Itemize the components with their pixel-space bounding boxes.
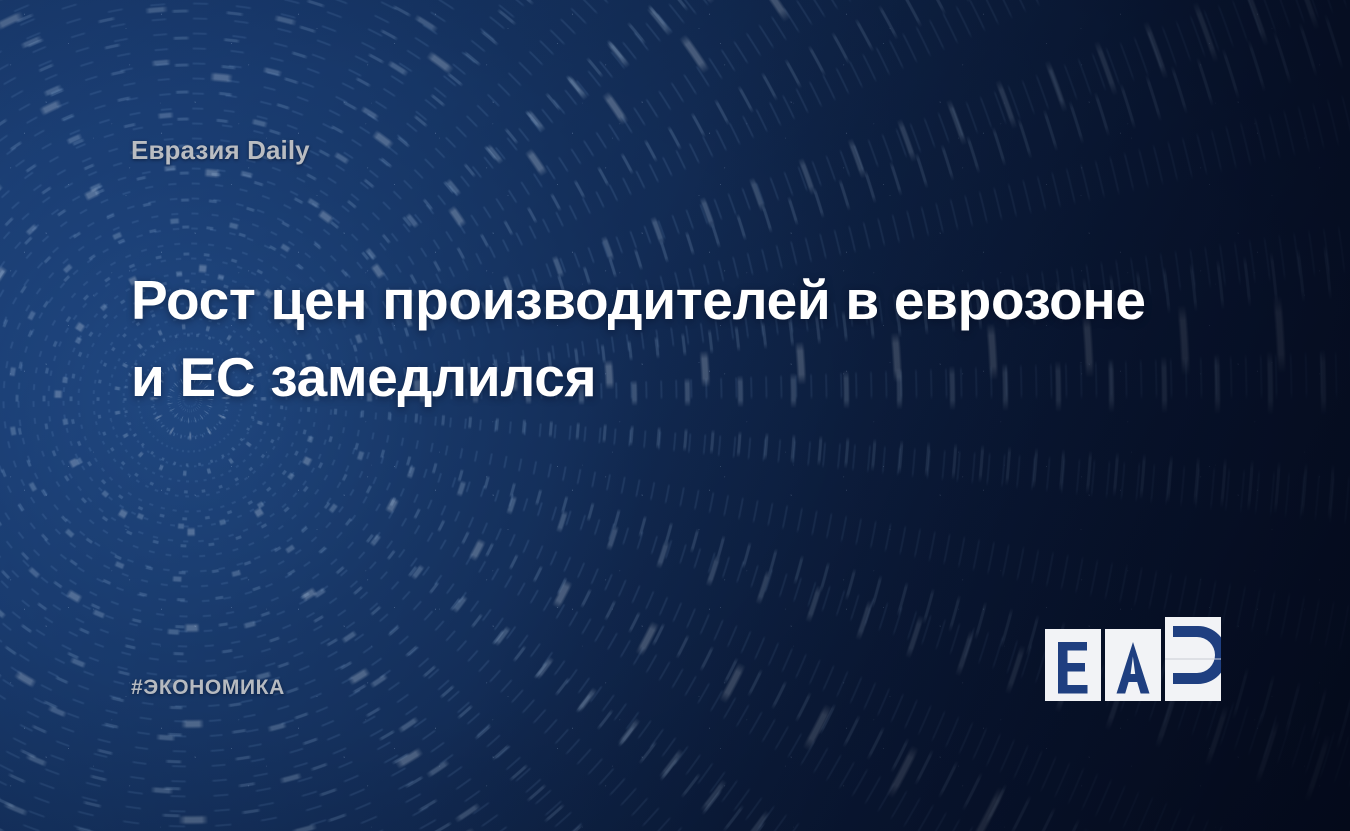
article-share-card: Евразия Daily Рост цен производителей в …	[0, 0, 1350, 831]
eadaily-logo[interactable]	[1045, 617, 1221, 701]
card-content: Евразия Daily Рост цен производителей в …	[0, 0, 1350, 831]
category-hashtag[interactable]: #ЭКОНОМИКА	[131, 676, 285, 700]
site-name: Евразия Daily	[131, 135, 310, 166]
article-headline: Рост цен производителей в еврозоне и ЕС …	[131, 262, 1161, 416]
eadaily-logo-icon	[1045, 617, 1221, 701]
